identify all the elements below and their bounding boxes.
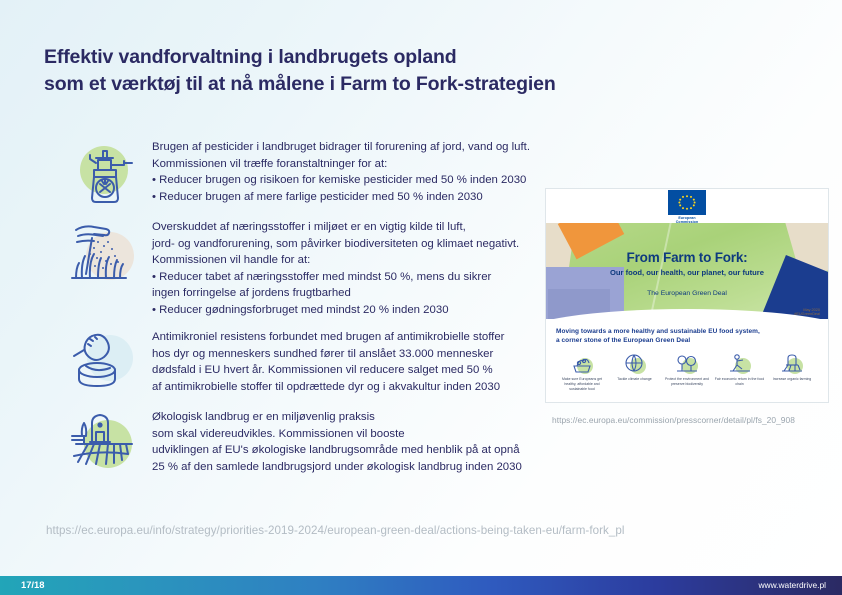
text-line: af antimikrobielle stoffer til opdrætted… (152, 379, 504, 396)
icon-caption: Make sure Europeans get healthy, afforda… (557, 377, 607, 391)
eu-flag-icon (668, 190, 706, 215)
pesticides-text: Brugen af pesticider i landbruget bidrag… (152, 136, 530, 205)
text-line: Overskuddet af næringsstoffer i miljøet … (152, 219, 519, 236)
hero-text-group: From Farm to Fork: Our food, our health,… (546, 250, 828, 300)
main-source-url[interactable]: https://ec.europa.eu/info/strategy/prior… (46, 524, 624, 537)
pills-antimicrobial-icon (66, 326, 152, 402)
icon-caption: Tackle climate change (610, 377, 660, 382)
nutrients-text: Overskuddet af næringsstoffer i miljøet … (152, 216, 519, 319)
infographic-body: Moving towards a more healthy and sustai… (546, 319, 828, 391)
climate-globe-icon (623, 352, 647, 374)
slide: Effektiv vandforvaltning i landbrugets o… (0, 0, 842, 595)
antimicrobials-text: Antimikroniel resistens forbundet med br… (152, 326, 504, 395)
text-line: som skal videreudvikles. Kommissionen vi… (152, 426, 522, 443)
european-commission-logo: European Commission (668, 190, 706, 225)
text-line: 25 % af den samlede landbrugsjord under … (152, 459, 522, 476)
infographic-icon-item: Make sure Europeans get healthy, afforda… (557, 352, 607, 391)
icon-caption: Fair economic return in the food chain (715, 377, 765, 386)
pesticide-sprayer-icon (66, 136, 152, 212)
organic-farming-icon (780, 352, 804, 374)
text-line: Økologisk landbrug er en miljøvenlig pra… (152, 409, 522, 426)
title-line-1: Effektiv vandforvaltning i landbrugets o… (44, 44, 664, 71)
text-line: Kommissionen vil træffe foranstaltninger… (152, 156, 530, 173)
text-line: Brugen af pesticider i landbruget bidrag… (152, 139, 530, 156)
infographic-icon-row: Make sure Europeans get healthy, afforda… (556, 352, 818, 391)
biodiversity-trees-icon (675, 352, 699, 374)
infographic-icon-item: Protect the environment and preserve bio… (662, 352, 712, 391)
infographic-tagline-2: a corner stone of the European Green Dea… (556, 336, 818, 345)
farm-to-fork-infographic: European Commission From Farm to Fork: O… (545, 188, 829, 403)
infographic-icon-item: Increase organic farming (767, 352, 817, 391)
hero-subtitle: Our food, our health, our planet, our fu… (546, 267, 828, 279)
text-line: udviklingen af EU's økologiske landbrugs… (152, 442, 522, 459)
hero-date-block: May 2020 #EUGreenDeal (794, 308, 820, 317)
text-line: Antimikroniel resistens forbundet med br… (152, 329, 504, 346)
organic-farm-barn-icon (66, 406, 152, 482)
hero-title: From Farm to Fork: (546, 250, 828, 266)
text-line: Kommissionen vil handle for at: (152, 252, 519, 269)
text-line: • Reducer brugen af mere farlige pestici… (152, 189, 530, 206)
hero-green-deal-label: The European Green Deal (546, 288, 828, 300)
content-row-antimicrobials: Antimikroniel resistens forbundet med br… (66, 326, 504, 402)
fair-economic-return-icon (728, 352, 752, 374)
text-line: ingen forringelse af jordens frugtbarhed (152, 285, 519, 302)
page-number: 17/18 (21, 579, 44, 590)
infographic-tagline-1: Moving towards a more healthy and sustai… (556, 327, 818, 336)
organic-text: Økologisk landbrug er en miljøvenlig pra… (152, 406, 522, 475)
infographic-icon-item: Tackle climate change (610, 352, 660, 391)
infographic-hero: From Farm to Fork: Our food, our health,… (546, 223, 828, 319)
eu-logo-line-1: European (668, 216, 706, 220)
icon-caption: Protect the environment and preserve bio… (662, 377, 712, 386)
content-row-pesticides: Brugen af pesticider i landbruget bidrag… (66, 136, 530, 212)
icon-caption: Increase organic farming (767, 377, 817, 382)
infographic-header: European Commission (546, 189, 828, 223)
page-title: Effektiv vandforvaltning i landbrugets o… (44, 44, 664, 98)
hero-hashtag: #EUGreenDeal (794, 312, 820, 317)
infographic-source-url[interactable]: https://ec.europa.eu/commission/presscor… (552, 415, 795, 425)
content-row-nutrients: Overskuddet af næringsstoffer i miljøet … (66, 216, 519, 319)
fertilizer-hand-grass-icon (66, 216, 152, 292)
content-row-organic: Økologisk landbrug er en miljøvenlig pra… (66, 406, 522, 482)
footer-website[interactable]: www.waterdrive.pl (759, 580, 827, 590)
text-line: • Reducer gødningsforbruget med mindst 2… (152, 302, 519, 319)
text-line: hos dyr og menneskers sundhed fører til … (152, 346, 504, 363)
text-line: • Reducer tabet af næringsstoffer med mi… (152, 269, 519, 286)
text-line: dødsfald i EU hvert år. Kommissionen vil… (152, 362, 504, 379)
text-line: • Reducer brugen og risikoen for kemiske… (152, 172, 530, 189)
footer-bar: 17/18 www.waterdrive.pl (0, 576, 842, 595)
infographic-icon-item: Fair economic return in the food chain (715, 352, 765, 391)
title-line-2: som et værktøj til at nå målene i Farm t… (44, 71, 664, 98)
healthy-food-icon (570, 352, 594, 374)
text-line: jord- og vandforurening, som påvirker bi… (152, 236, 519, 253)
